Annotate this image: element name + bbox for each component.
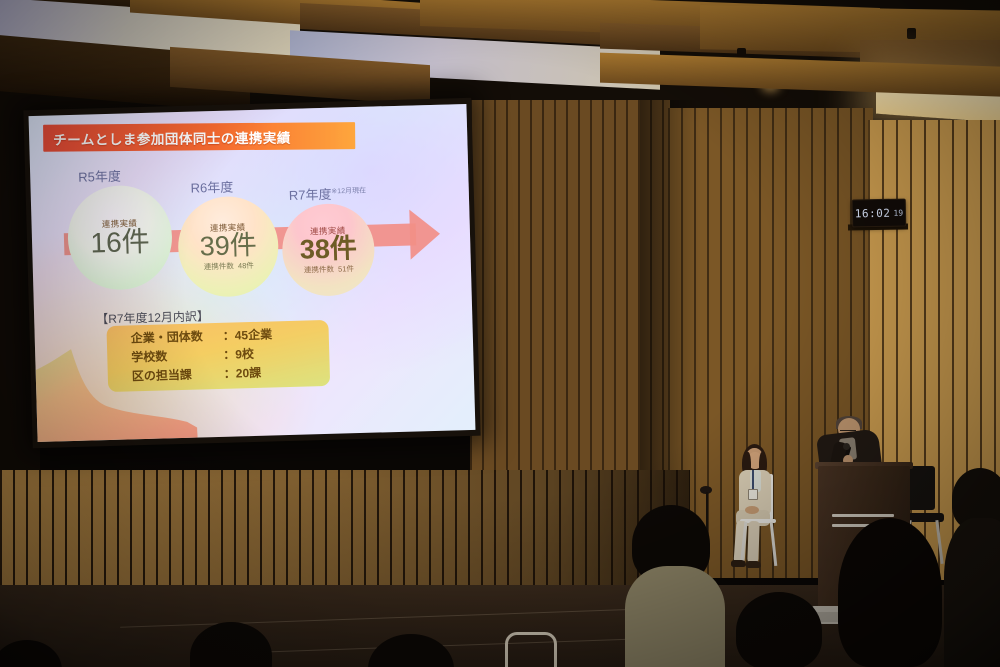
year-label-r7-note: ※12月現在: [331, 187, 366, 195]
stat-value-r5: 16件: [90, 227, 150, 258]
year-label-r5-text: R5年度: [78, 169, 121, 185]
shoe: [746, 561, 761, 568]
progress-arrow-head-icon: [409, 209, 440, 260]
stat-sub-value-r7: 51件: [338, 264, 354, 273]
year-label-r6-text: R6年度: [190, 179, 233, 195]
stat-value-r6: 39件: [199, 231, 257, 261]
lanyard: [752, 470, 754, 490]
ceiling-spotlight-icon: [907, 28, 916, 39]
breakdown-key: 企業・団体数: [131, 327, 223, 349]
microphone-head-icon: [843, 443, 850, 450]
stat-sub-r6: 連携件数 48件: [204, 260, 254, 272]
audience-shoulders: [944, 518, 1000, 667]
year-label-r7: R7年度※12月現在: [289, 183, 367, 204]
stat-circle-r5: 連携実績 16件: [67, 184, 174, 291]
leg: [747, 521, 759, 563]
stat-circle-r6: 連携実績 39件 連携件数 48件: [177, 195, 280, 298]
stat-circle-r7: 連携実績 38件 連携件数 51件: [281, 203, 376, 298]
hands: [745, 506, 759, 514]
photo-scene: 16:02 19 チームとしま参加団体同士の連携実績 R5年度 R6年度: [0, 0, 1000, 667]
audience-head: [736, 592, 822, 667]
breakdown-value: ：20課: [224, 364, 262, 384]
breakdown-rows: 企業・団体数 ：45企業 学校数 ：9校 区の担当課 ：20課: [131, 324, 333, 387]
year-label-r5: R5年度: [78, 166, 121, 186]
wall-clock: 16:02 19: [852, 199, 906, 228]
projection-screen-frame: チームとしま参加団体同士の連携実績 R5年度 R6年度 R7年度※12月現在 連…: [23, 98, 480, 448]
breakdown-value: ：45企業: [222, 325, 272, 345]
shoe: [731, 560, 746, 567]
stat-value-r7: 38件: [299, 234, 357, 264]
foreground-chair: [505, 632, 557, 667]
stat-sub-r7: 連携件数 51件: [304, 263, 354, 275]
breakdown-key: 学校数: [131, 346, 223, 368]
projection-screen[interactable]: チームとしま参加団体同士の連携実績 R5年度 R6年度 R7年度※12月現在 連…: [29, 104, 476, 442]
stat-sub-value-r6: 48件: [238, 261, 254, 270]
breakdown-value: ：9校: [223, 345, 254, 365]
year-label-r6: R6年度: [190, 176, 233, 196]
slide-title-text: チームとしま参加団体同士の連携実績: [43, 126, 291, 148]
badge: [748, 489, 758, 500]
stat-sub-label-r6: 連携件数: [204, 262, 234, 272]
slide-title-banner: チームとしま参加団体同士の連携実績: [43, 122, 355, 152]
clock-time: 16:02: [855, 206, 891, 220]
clock-seconds: 19: [893, 208, 903, 217]
audience-shoulders: [625, 566, 725, 667]
podium-accent-strip: [832, 514, 894, 517]
year-label-r7-text: R7年度: [289, 187, 332, 203]
breakdown-key: 区の担当課: [132, 365, 224, 387]
stat-sub-label-r7: 連携件数: [304, 265, 334, 275]
audience-head: [838, 518, 942, 667]
